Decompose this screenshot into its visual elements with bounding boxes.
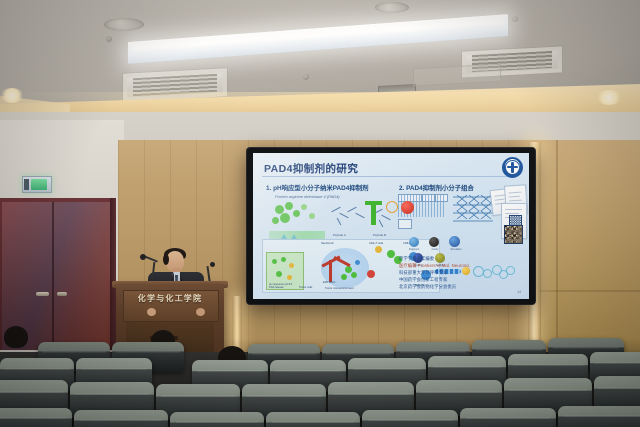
diagram-label: Tumor cells [299,286,312,289]
slide-section-2-heading: 2. PAD4抑制剂小分子组合 [399,183,474,192]
seat[interactable] [362,410,458,427]
helix-svg [451,193,495,227]
seat[interactable] [170,412,264,427]
downlight [0,88,24,103]
podium-sign-text: 化学与化工学院 [123,293,217,304]
sphere-label: Fragment [403,248,425,251]
section-2-label: PAD4抑制剂小分子组合 [406,185,474,192]
slide-content: PAD4抑制剂的研究 1. pH响应型小分子纳米PAD4抑制剂 Protein … [253,153,529,299]
microphone-icon [140,254,146,260]
diagram-label: Tumor microenvironment [325,287,354,290]
sphere-icon [429,237,439,247]
university-emblem-icon [502,157,523,178]
chem-label: Peptide A [333,233,346,237]
seat[interactable] [558,406,640,427]
downlight [596,90,622,105]
slide-title: PAD4抑制剂的研究 [264,161,358,176]
credential-line: 科技部重大专项评审专家 [399,270,447,276]
speaker-hand [196,308,205,316]
reaction-arrow-stem [371,203,376,225]
chem-label: Peptide B [373,233,386,237]
presentation-screen[interactable]: PAD4抑制剂的研究 1. pH响应型小分子纳米PAD4抑制剂 Protein … [253,153,529,299]
sphere-icon [435,253,445,263]
nanoparticle-cluster-graphic [271,201,323,235]
section-2-index: 2. [399,185,404,192]
seat[interactable] [74,410,168,427]
door-split-line [52,202,54,350]
wood-panel-wall-right [540,140,640,362]
ceiling-dome-speaker-icon [375,2,409,13]
credential-line: 中国药学会创新工程专家 [399,277,447,283]
sphere-label: Cavity [425,248,445,251]
door-handle[interactable] [57,292,67,296]
diagram-label: Nanobomb [321,242,334,245]
microphone-icon [210,262,215,267]
credential-line: 药学学报青年编委 [399,256,434,262]
helix-structure-graphic [451,193,495,227]
diagram-label: CD4+T cells [369,242,383,245]
sphere-label: Simulation [445,248,467,251]
sprinkler-icon [512,16,518,22]
diagram-label: EPR effect [323,281,335,284]
sphere-icon [409,237,419,247]
molecule-sphere-icon [401,201,414,214]
slide-page-number: 14 [517,290,521,294]
section-1-index: 1. [266,185,271,192]
panel-seam [556,140,558,362]
ceiling-dome-speaker-icon [104,18,144,31]
emergency-exit-icon [22,176,52,193]
section-1-label: pH响应型小分子纳米PAD4抑制剂 [273,185,368,192]
speaker-hair-side [163,254,169,265]
sphere-icon [449,236,460,247]
diagram-label: DNA release [269,286,284,289]
title-underline [262,176,514,177]
sprinkler-icon [106,36,112,42]
diagram-green-panel: pH response pH 6.5 [266,252,304,290]
lecture-hall-photo: PAD4抑制剂的研究 1. pH响应型小分子纳米PAD4抑制剂 Protein … [0,0,640,427]
panel-seam [540,290,640,292]
seat[interactable] [460,408,556,427]
molecule-ring-icon [386,201,398,213]
door-handle[interactable] [36,292,49,296]
attendee [4,326,28,348]
credential-line: 医疗编辑 Frontiers in Mol. Neurosci. [399,263,471,269]
speaker-hand [147,308,156,316]
seat[interactable] [0,408,72,427]
slide-section-1-heading: 1. pH响应型小分子纳米PAD4抑制剂 [266,183,369,192]
qr-code-icon [504,225,523,244]
seat[interactable] [266,412,360,427]
credential-line: 北京药学会药物化学分会委员 [399,284,456,290]
panel-box [398,219,412,229]
sprinkler-icon [303,74,309,80]
